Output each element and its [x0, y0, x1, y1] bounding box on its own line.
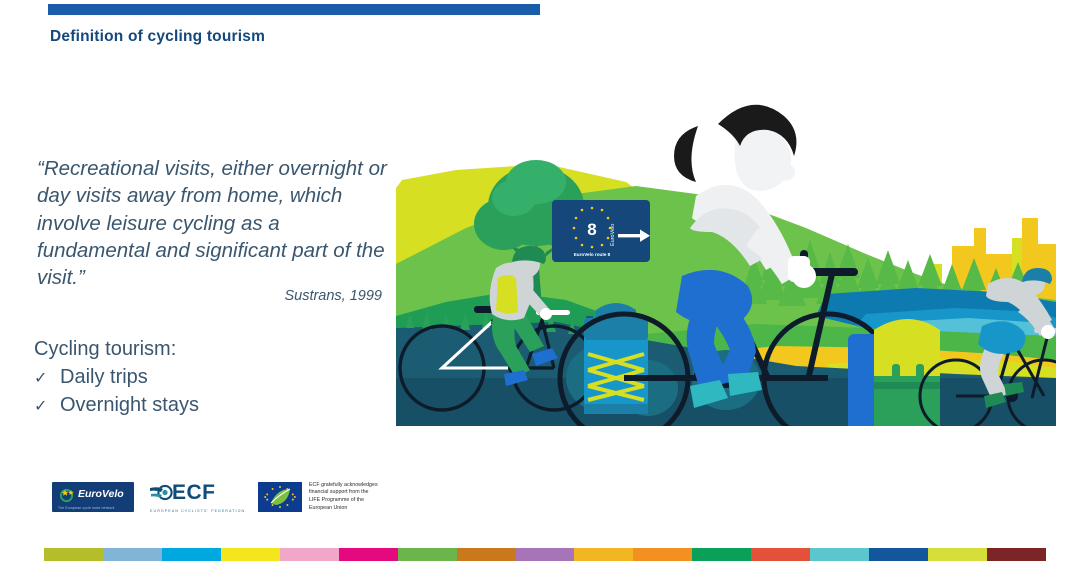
- eu-flag: [258, 482, 302, 512]
- ecf-tagline: EUROPEAN CYCLISTS' FEDERATION: [150, 509, 245, 513]
- sign-caption-vertical: EuroVelo: [610, 224, 616, 246]
- eurovelo-tagline: The European cycle route network: [58, 506, 114, 510]
- colorbar-segment-6: [398, 548, 457, 561]
- right-hand: [1041, 325, 1055, 339]
- life-eu-logo: ECF gratefully acknowledges financial su…: [258, 482, 378, 512]
- ecf-wordmark: ECF: [172, 481, 216, 505]
- quote-text: “Recreational visits, either overnight o…: [37, 155, 387, 291]
- list-heading: Cycling tourism:: [34, 338, 176, 361]
- colorbar-segment-12: [751, 548, 810, 561]
- colorbar-segment-15: [928, 548, 987, 561]
- illustration-svg: 8 EuroVelo EuroVelo route 8: [396, 78, 1056, 446]
- colorbar-segment-14: [869, 548, 928, 561]
- colorbar-segment-13: [810, 548, 869, 561]
- list-item-label: Overnight stays: [60, 394, 199, 417]
- life-leaf-icon: [268, 487, 292, 507]
- colorbar-segment-9: [574, 548, 633, 561]
- colorbar-segment-3: [221, 548, 280, 561]
- eurovelo-logo: EuroVelo The European cycle route networ…: [52, 482, 134, 512]
- eurovelo-stars-icon: [57, 488, 76, 503]
- colorbar-segment-8: [516, 548, 575, 561]
- left-rider-hand: [540, 308, 552, 320]
- list-item: ✓ Daily trips: [34, 366, 199, 389]
- eurovelo-wordmark: EuroVelo: [78, 488, 124, 500]
- title-rule: [48, 4, 540, 15]
- pannier-front: [848, 319, 940, 442]
- quote-source: Sustrans, 1999: [37, 288, 382, 304]
- left-rider-vest: [496, 275, 518, 314]
- sign-subcaption: EuroVelo route 8: [574, 252, 611, 257]
- cycling-tourism-list: ✓ Daily trips ✓ Overnight stays: [34, 366, 199, 422]
- sdg-colorbar: [44, 548, 1046, 561]
- colorbar-segment-10: [633, 548, 692, 561]
- colorbar-segment-16: [987, 548, 1046, 561]
- life-acknowledgement: ECF gratefully acknowledges financial su…: [309, 482, 378, 512]
- list-item: ✓ Overnight stays: [34, 394, 199, 417]
- logo-row: EuroVelo The European cycle route networ…: [52, 481, 378, 513]
- ecf-wheel-icon: [150, 484, 174, 501]
- sign-route-number: 8: [587, 220, 596, 239]
- colorbar-segment-5: [339, 548, 398, 561]
- colorbar-segment-11: [692, 548, 751, 561]
- check-icon: ✓: [34, 368, 60, 388]
- colorbar-segment-7: [457, 548, 516, 561]
- check-icon: ✓: [34, 396, 60, 416]
- road-foreground: [396, 426, 1056, 446]
- colorbar-segment-1: [103, 548, 162, 561]
- colorbar-segment-2: [162, 548, 221, 561]
- page-title: Definition of cycling tourism: [50, 28, 265, 46]
- ecf-logo: ECF EUROPEAN CYCLISTS' FEDERATION: [150, 481, 242, 513]
- list-item-label: Daily trips: [60, 366, 148, 389]
- slide-canvas: Definition of cycling tourism “Recreatio…: [0, 0, 1080, 563]
- colorbar-segment-0: [44, 548, 103, 561]
- colorbar-segment-4: [280, 548, 339, 561]
- cycling-illustration: 8 EuroVelo EuroVelo route 8: [396, 78, 1056, 446]
